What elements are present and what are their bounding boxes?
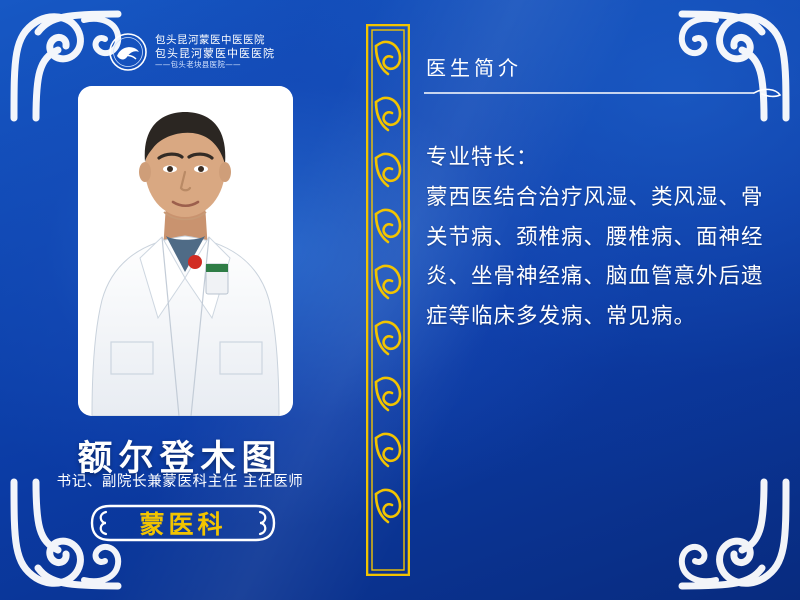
doctor-portrait (78, 86, 293, 416)
right-panel: 医生简介 专业特长： 蒙西医结合治疗风湿、类风湿、骨关节病、颈椎病、腰椎病、面神… (418, 0, 800, 600)
hospital-name-mongolian: 包头昆河蒙医中医医院 (155, 35, 275, 46)
doctor-bio-text: 专业特长： 蒙西医结合治疗风湿、类风湿、骨关节病、颈椎病、腰椎病、面神经炎、坐骨… (426, 138, 778, 337)
hospital-name-chinese: 包头昆河蒙医中医医院 (155, 48, 275, 60)
section-headline: 医生简介 (426, 52, 522, 81)
left-panel: 包头昆河蒙医中医医院 包头昆河蒙医中医医院 ——包头老块县医院—— (0, 0, 360, 600)
bio-body: 蒙西医结合治疗风湿、类风湿、骨关节病、颈椎病、腰椎病、面神经炎、坐骨神经痛、脑血… (426, 185, 764, 329)
doctor-profile-card: 包头昆河蒙医中医医院 包头昆河蒙医中医医院 ——包头老块县医院—— (0, 0, 800, 600)
department-badge: 蒙医科 (88, 502, 278, 544)
bio-lead: 专业特长： (426, 138, 778, 178)
hospital-emblem-icon (108, 32, 148, 72)
headline-divider (424, 84, 784, 96)
hospital-logo: 包头昆河蒙医中医医院 包头昆河蒙医中医医院 ——包头老块县医院—— (108, 26, 288, 78)
ornamental-divider-band (366, 24, 410, 576)
doctor-title: 书记、副院长兼蒙医科主任 主任医师 (0, 470, 360, 491)
department-label: 蒙医科 (88, 502, 278, 544)
hospital-subtitle: ——包头老块县医院—— (155, 61, 275, 69)
